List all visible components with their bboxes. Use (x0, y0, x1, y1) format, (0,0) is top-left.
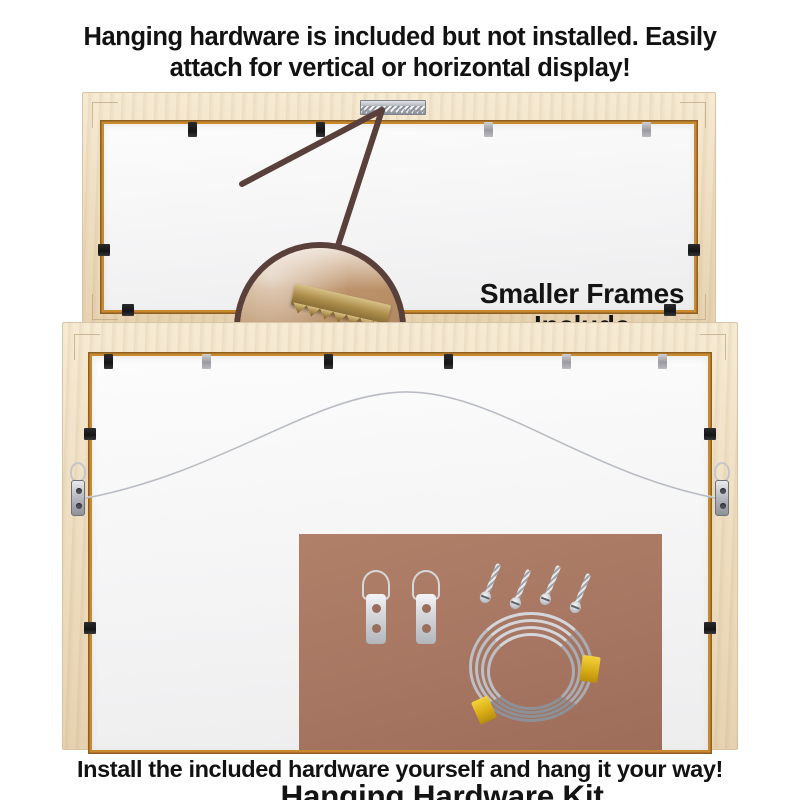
retaining-clip (642, 122, 651, 137)
hanging-hardware-kit-photo (299, 534, 662, 750)
retaining-clip (658, 354, 667, 369)
headline-top-line-2: attach for vertical or horizontal displa… (24, 53, 776, 84)
wire-coil-loop (487, 633, 575, 710)
headline-top: Hanging hardware is included but not ins… (0, 22, 800, 84)
retaining-clip (704, 428, 716, 440)
retaining-clip (562, 354, 571, 369)
infographic-canvas: Hanging hardware is included but not ins… (0, 0, 800, 800)
d-ring-screw-hole (422, 604, 431, 613)
headline-bottom: Install the included hardware yourself a… (0, 755, 800, 784)
d-ring-screw-hole (720, 488, 726, 494)
d-ring-plate (366, 594, 386, 644)
retaining-clip (202, 354, 211, 369)
d-ring-screw-hole (720, 503, 726, 509)
sawtooth-hanger-icon (360, 100, 426, 115)
retaining-clip (704, 622, 716, 634)
headline-bottom-line-1: Install the included hardware yourself a… (14, 755, 786, 784)
d-ring-screw-hole (76, 488, 82, 494)
larger-frame-back-view: Hanging Hardware Kit Included with Large… (62, 322, 738, 750)
screw-head (538, 592, 553, 607)
d-ring-hanger-icon (411, 570, 441, 644)
d-ring-plate (416, 594, 436, 644)
d-ring-loop (714, 462, 730, 482)
wire-tape (579, 655, 600, 683)
callout-glare (234, 242, 406, 290)
headline-top-line-1: Hanging hardware is included but not ins… (24, 22, 776, 53)
retaining-clip (316, 122, 325, 137)
retaining-clip (84, 428, 96, 440)
d-ring-screw-hole (422, 624, 431, 633)
retaining-clip (688, 244, 700, 256)
screw-icon (536, 564, 563, 614)
d-ring-screw-hole (76, 503, 82, 509)
retaining-clip (484, 122, 493, 137)
d-ring-plate (715, 480, 729, 516)
retaining-clip (324, 354, 333, 369)
d-ring-loop (70, 462, 86, 482)
d-ring-hanger-right (712, 462, 732, 518)
sawtooth-teeth (361, 106, 425, 114)
screw-head (508, 596, 523, 611)
smaller-frame-back-view: Smaller Frames Include Sawtooth Hanger (82, 92, 716, 330)
retaining-clip (98, 244, 110, 256)
d-ring-screw-hole (372, 604, 381, 613)
retaining-clip (84, 622, 96, 634)
screw-icon (506, 568, 533, 618)
screw-head (478, 590, 493, 605)
retaining-clip (104, 354, 113, 369)
coiled-picture-wire-icon (469, 612, 593, 736)
d-ring-plate (71, 480, 85, 516)
retaining-clip (188, 122, 197, 137)
retaining-clip (444, 354, 453, 369)
d-ring-screw-hole (372, 624, 381, 633)
screw-icon (476, 562, 503, 612)
retaining-clip (122, 304, 134, 316)
d-ring-hanger-left (68, 462, 88, 518)
d-ring-hanger-icon (361, 570, 391, 644)
upper-caption-line-1: Smaller Frames (422, 278, 742, 310)
